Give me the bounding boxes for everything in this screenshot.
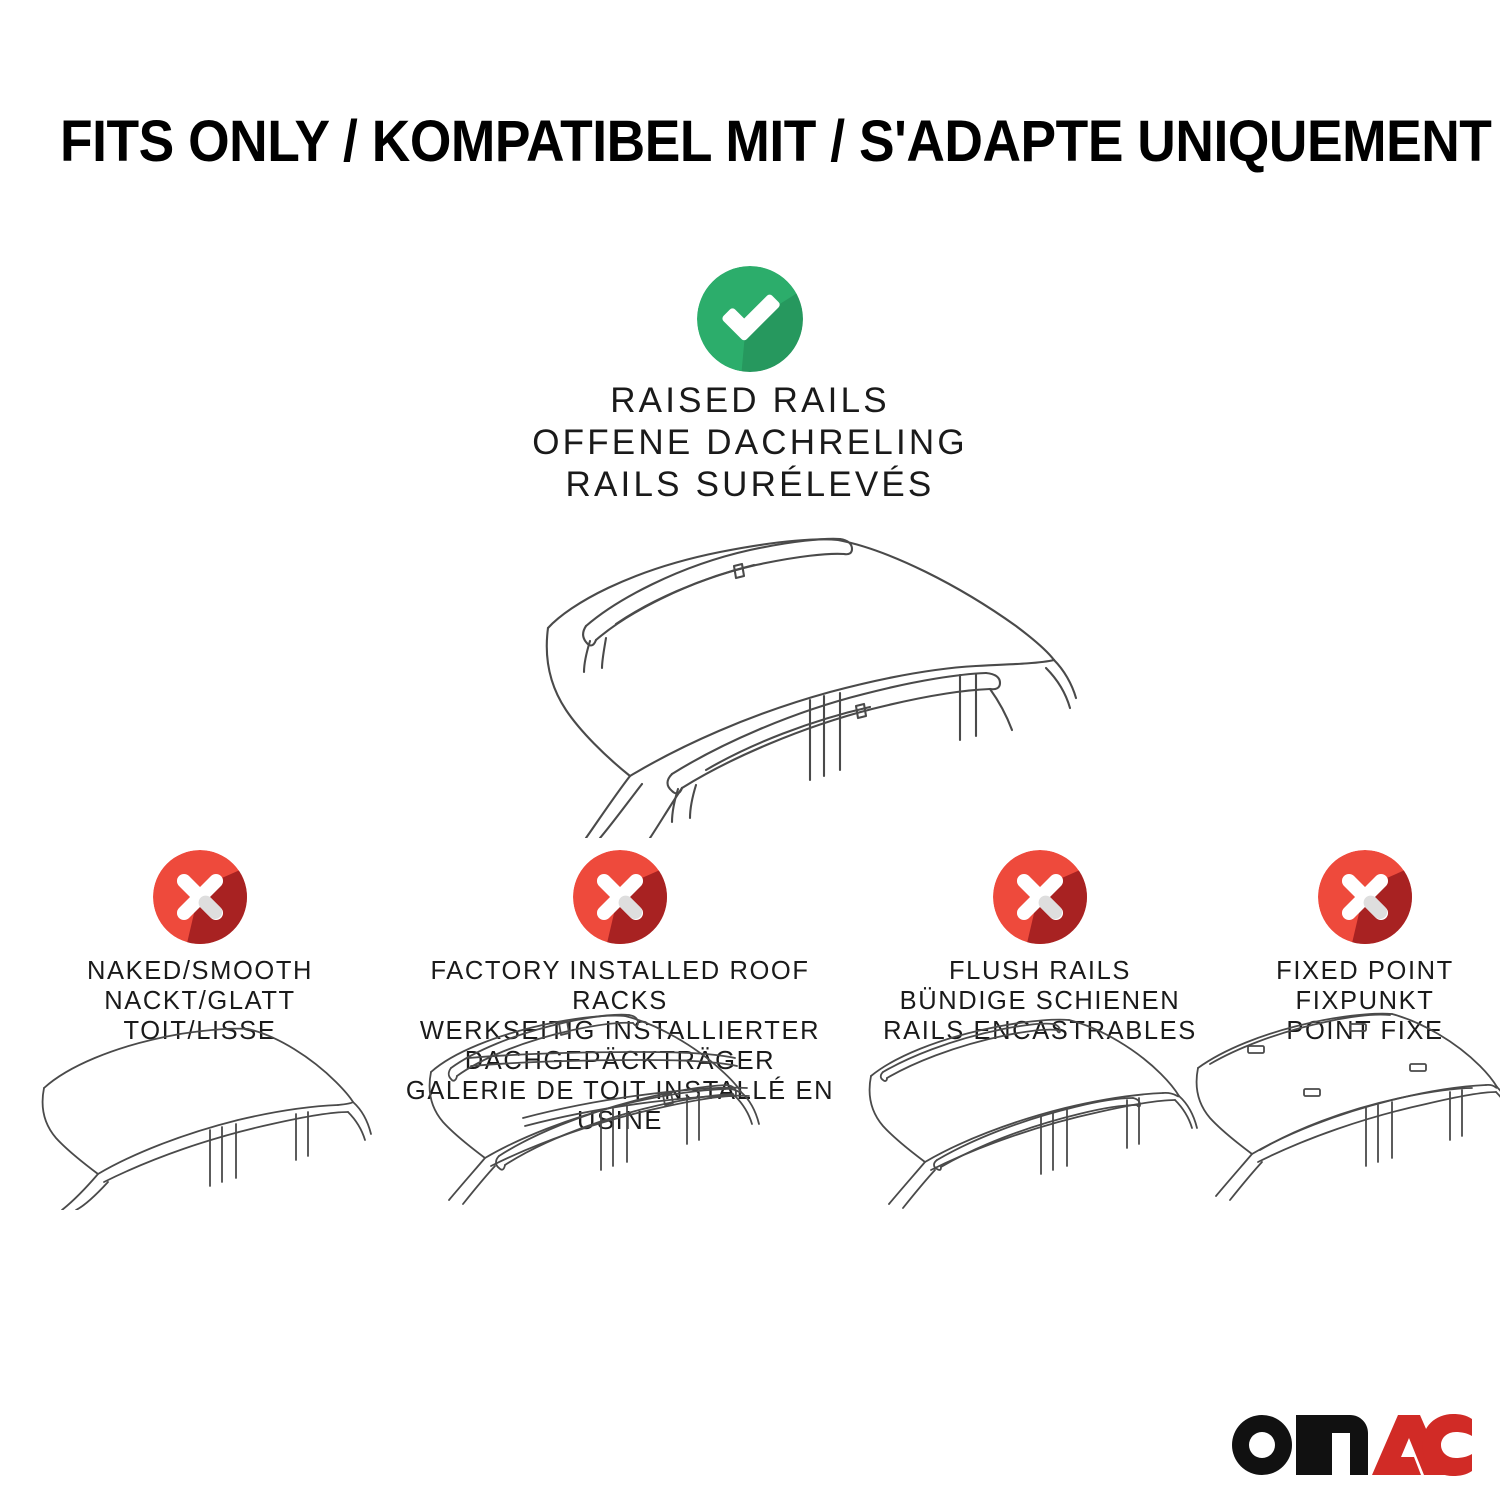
car-roof-factory-roof-racks-illustration bbox=[395, 1010, 825, 1210]
page-title: FITS ONLY / KOMPATIBEL MIT / S'ADAPTE UN… bbox=[60, 108, 1440, 175]
car-roof-naked-smooth-illustration bbox=[0, 1010, 390, 1210]
incompatible-item-naked-smooth: NAKED/SMOOTH NACKT/GLATT TOIT/LISSE bbox=[10, 840, 390, 1100]
incompatible-item-flush-rails: FLUSH RAILS BÜNDIGE SCHIENEN RAILS ENCAS… bbox=[850, 840, 1230, 1100]
x-circle-icon bbox=[993, 850, 1087, 944]
x-circle-icon bbox=[153, 850, 247, 944]
check-circle-icon bbox=[697, 266, 803, 372]
incompatible-row: NAKED/SMOOTH NACKT/GLATT TOIT/LISSE bbox=[0, 840, 1500, 1100]
incompatible-item-factory-roof-racks: FACTORY INSTALLED ROOF RACKS WERKSEITIG … bbox=[390, 840, 850, 1100]
x-circle-icon bbox=[1318, 850, 1412, 944]
car-roof-raised-rails-illustration bbox=[420, 508, 1100, 838]
fitment-compatibility-infographic: FITS ONLY / KOMPATIBEL MIT / S'ADAPTE UN… bbox=[0, 0, 1500, 1500]
omac-logo bbox=[1228, 1405, 1473, 1477]
compatible-caption: RAISED RAILS OFFENE DACHRELING RAILS SUR… bbox=[0, 380, 1500, 506]
car-roof-fixed-point-illustration bbox=[1180, 1010, 1500, 1210]
x-circle-icon bbox=[573, 850, 667, 944]
incompatible-item-fixed-point: FIXED POINT FIXPUNKT POINT FIXE bbox=[1230, 840, 1500, 1100]
